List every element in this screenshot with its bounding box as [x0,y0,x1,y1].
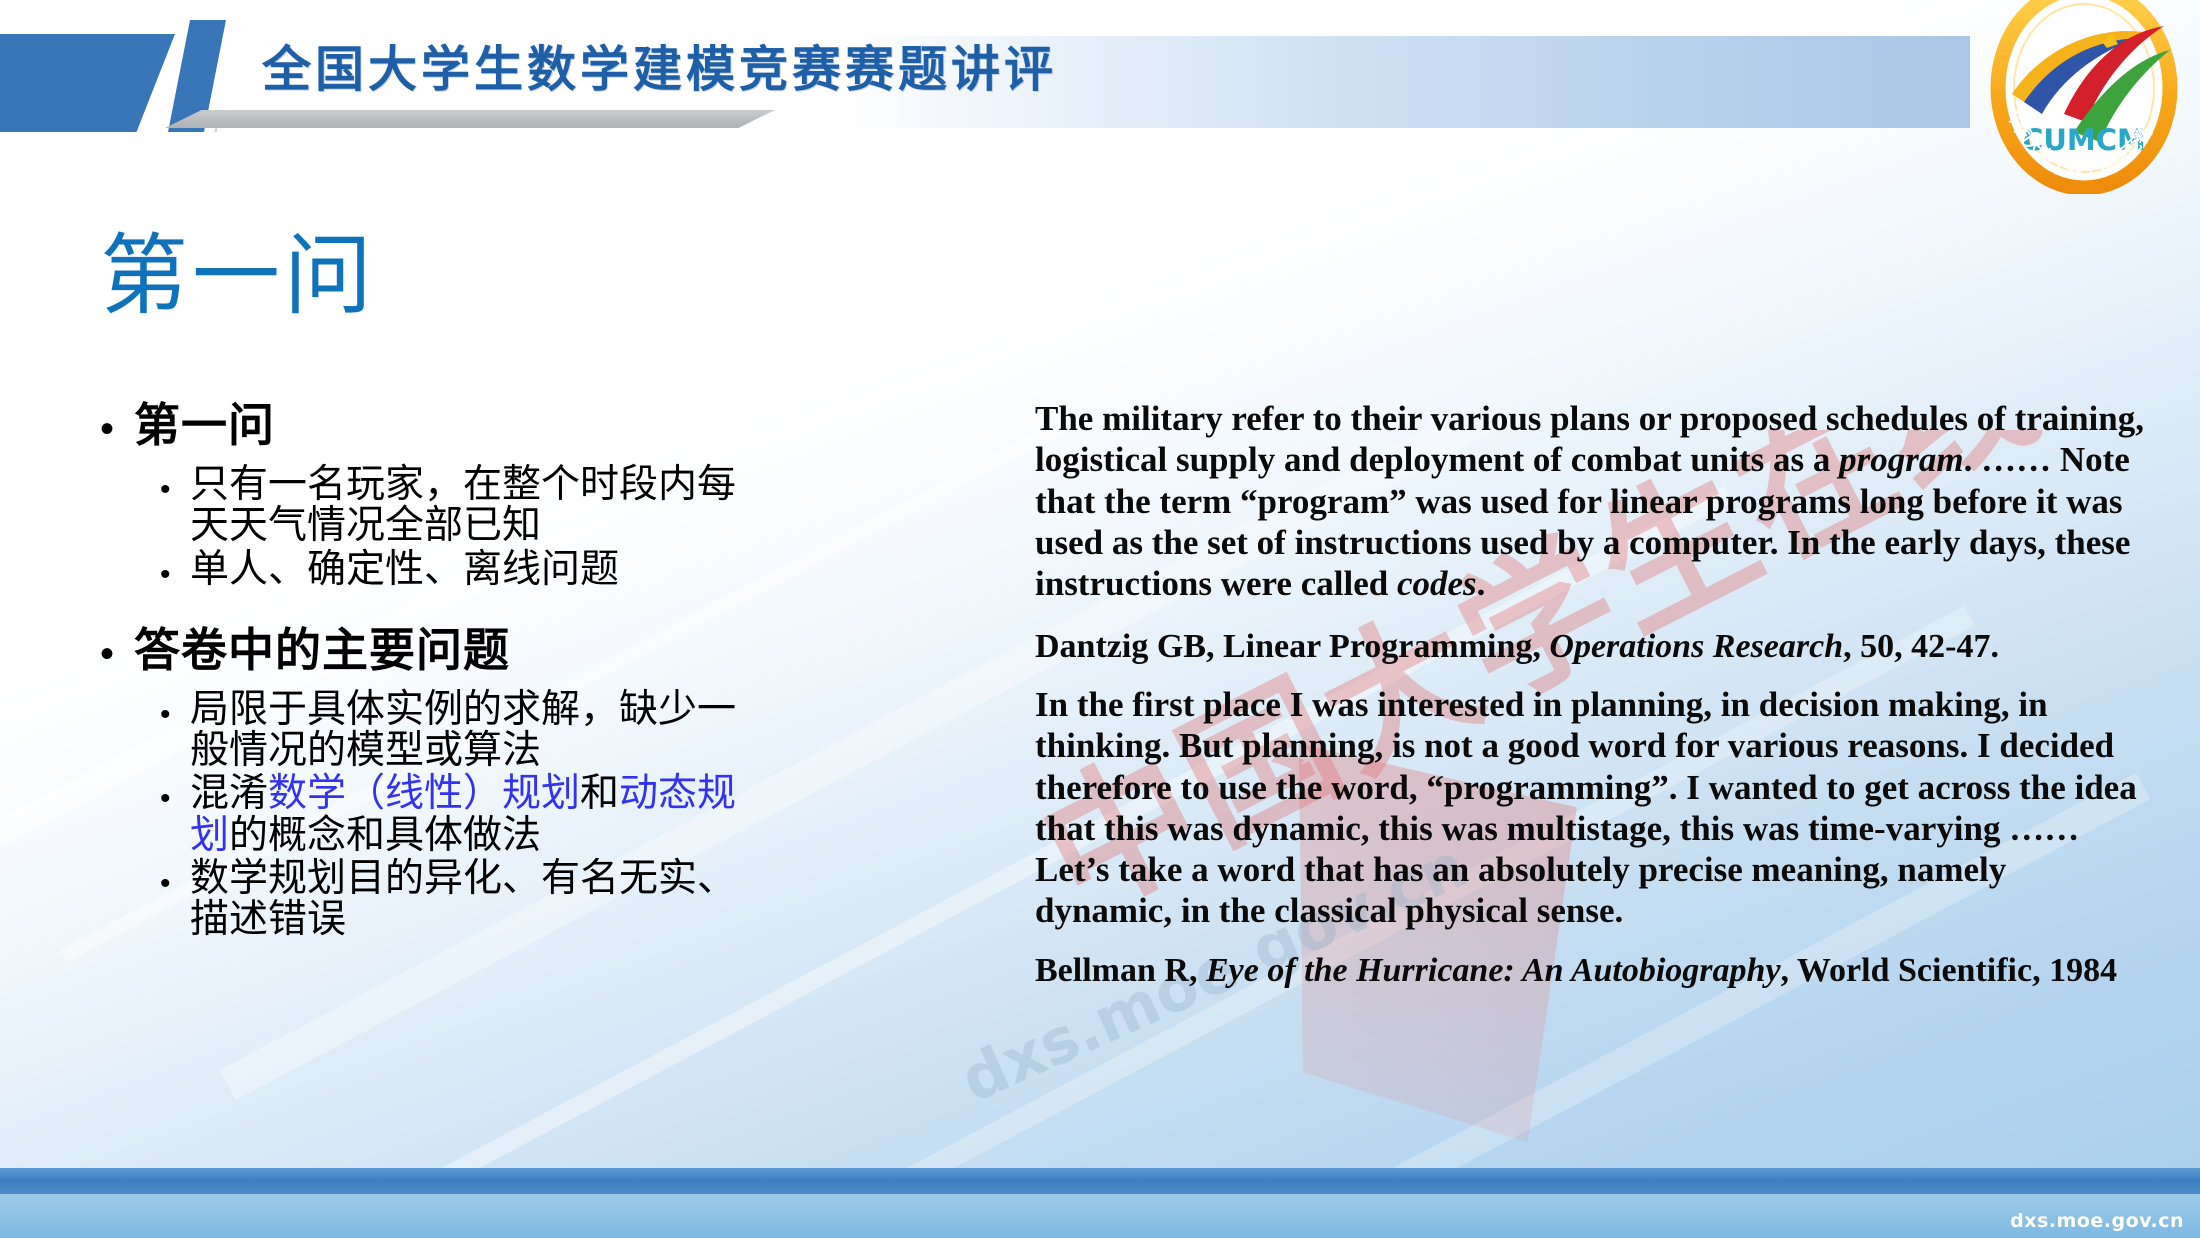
footer-accent-bar [0,1168,2200,1194]
header-title: 全国大学生数学建模竞赛赛题讲评 [262,30,1057,101]
header-blue-block [0,34,175,132]
group-spacer [100,603,740,625]
bullet-level2-label: 局限于具体实例的求解，缺少一般情况的模型或算法 [190,689,740,772]
citation-italic-book: Eye of the Hurricane: An Autobiography [1206,952,1781,989]
page-title: 第一问 [100,232,376,320]
bullet-level2-label: 单人、确定性、离线问题 [190,549,619,590]
citation-italic-journal: Operations Research [1549,628,1843,665]
bullet-level1-label: 答卷中的主要问题 [134,625,510,677]
citation-bellman: Bellman R, Eye of the Hurricane: An Auto… [1035,950,2150,991]
citation-part-b: , World Scientific, 1984 [1781,952,2118,989]
quote-italic-program: program [1839,440,1963,479]
bullet-level2-item-mixed: • 混淆数学（线性）规划和动态规划的概念和具体做法 [160,773,740,856]
bullet-dot-icon: • [160,773,190,825]
bullet-dot-icon: • [100,400,134,458]
bullet-dot-icon: • [160,858,190,910]
quote-part-c: . [1477,564,1486,603]
right-content-column: The military refer to their various plan… [1035,398,2150,1007]
bullet-level2-label: 只有一名玩家，在整个时段内每天天气情况全部已知 [190,464,740,547]
bullet-level1-label: 第一问 [134,400,275,452]
text-post: 的概念和具体做法 [229,813,541,858]
citation-part-b: , 50, 42-47. [1843,628,1999,665]
text-pre: 混淆 [190,771,268,816]
cumcm-logo: CUMCM 中国大学生数学建模竞赛 [1978,0,2190,194]
bullet-level2-item: • 局限于具体实例的求解，缺少一般情况的模型或算法 [160,689,740,772]
quote-italic-codes: codes [1397,564,1477,603]
text-mid: 和 [580,771,619,816]
citation-part-a: Bellman R, [1035,952,1206,989]
bullet-level2-label: 数学规划目的异化、有名无实、描述错误 [190,858,740,941]
quote-dantzig: The military refer to their various plan… [1035,398,2150,604]
slide-header: 全国大学生数学建模竞赛赛题讲评 [0,0,2200,160]
bullet-dot-icon: • [100,625,134,683]
bullet-dot-icon: • [160,549,190,601]
bullet-level2-item: • 只有一名玩家，在整个时段内每天天气情况全部已知 [160,464,740,547]
citation-dantzig: Dantzig GB, Linear Programming, Operatio… [1035,626,2150,667]
header-gray-underbar [165,110,775,128]
slide-canvas: 全国大学生数学建模竞赛赛题讲评 [0,0,2200,1238]
footer-strip: dxs.moe.gov.cn [0,1194,2200,1238]
bullet-dot-icon: • [160,689,190,741]
left-content-column: • 第一问 • 只有一名玩家，在整个时段内每天天气情况全部已知 • 单人、确定性… [100,400,740,943]
citation-part-a: Dantzig GB, Linear Programming, [1035,628,1549,665]
bullet-level1-first-question: • 第一问 [100,400,740,458]
text-highlight-math-programming: 数学（线性）规划 [268,771,580,816]
bullet-level2-item: • 数学规划目的异化、有名无实、描述错误 [160,858,740,941]
footer-url: dxs.moe.gov.cn [2010,1210,2184,1232]
bullet-level2-label-rich: 混淆数学（线性）规划和动态规划的概念和具体做法 [190,773,740,856]
bullet-level2-item: • 单人、确定性、离线问题 [160,549,740,601]
bullet-dot-icon: • [160,464,190,516]
bullet-level1-main-problems: • 答卷中的主要问题 [100,625,740,683]
quote-bellman: In the first place I was interested in p… [1035,684,2150,932]
